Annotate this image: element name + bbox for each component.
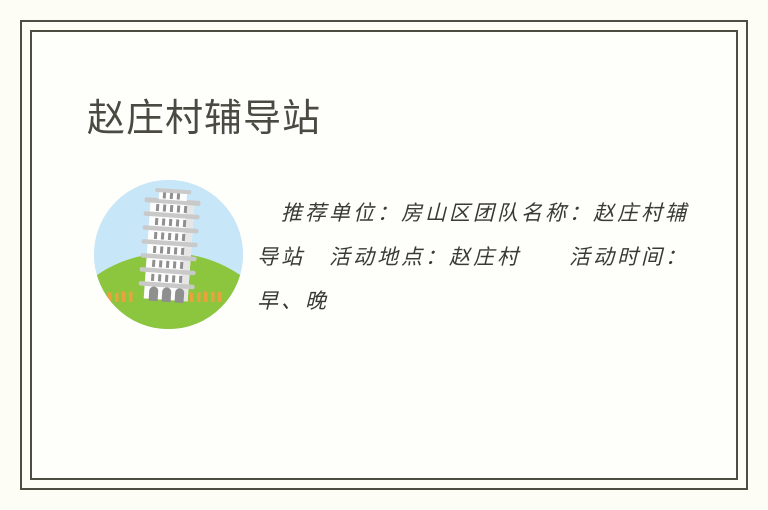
activity-description: 推荐单位：房山区团队名称：赵庄村辅导站 活动地点：赵庄村 活动时间：早、晚 [257, 191, 707, 323]
page-root: 赵庄村辅导站 [0, 0, 768, 510]
leaning-tower-of-pisa-icon [94, 180, 243, 329]
card-content: 推荐单位：房山区团队名称：赵庄村辅导站 活动地点：赵庄村 活动时间：早、晚 [87, 177, 707, 397]
card-inner-border: 赵庄村辅导站 [30, 30, 738, 480]
page-title: 赵庄村辅导站 [87, 94, 321, 144]
